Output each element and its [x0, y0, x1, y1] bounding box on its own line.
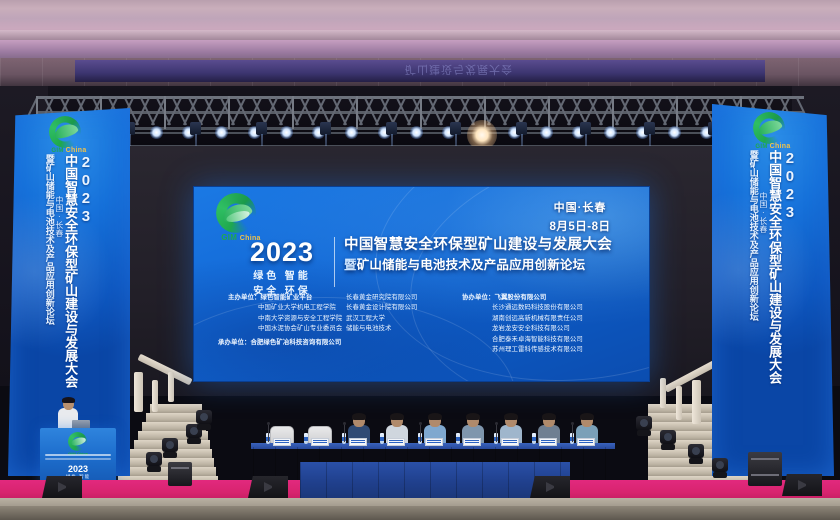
moving-head-light [660, 430, 676, 450]
screen-year: 2023 [236, 239, 328, 266]
floor-monitor-speaker [248, 476, 288, 498]
drape-fold [482, 462, 483, 502]
floor-monitor-speaker [530, 476, 570, 498]
screen-dates: 8月5日-8日 [524, 218, 636, 234]
table-skirt-fold [297, 447, 298, 483]
host-organizer-item: 中国矿业大学机电工程学院 [228, 303, 346, 313]
banner-left-title-sub: 暨矿山储能与电池技术及产品应用创新论坛 [45, 154, 54, 472]
undertaker-label: 承办单位： [218, 339, 250, 346]
host-organizer-item: 中国水泥协会矿山专业委员会 [228, 324, 346, 334]
screen-slogan-1: 绿色 智能 [236, 270, 328, 285]
co-organizer-item: 合肥泰禾卓海智能科技有限公司 [462, 335, 583, 345]
co-organizer-item: 龙岩龙安安全科技有限公司 [462, 324, 583, 334]
water-bottle [380, 433, 384, 444]
stage-light-glow [604, 126, 617, 139]
gim-logo-podium: GIM China [65, 432, 91, 453]
co-organizer-item: 长沙通远数码科技股份有限公司 [462, 303, 583, 313]
drape-fold [300, 462, 301, 502]
name-card [501, 438, 519, 446]
name-card [463, 438, 481, 446]
equipment-flight-case [168, 462, 192, 486]
balustrade-right-post [692, 380, 701, 424]
gim-logo-banner-right: GIM China [747, 112, 799, 152]
co-organizer-label: 协办单位：飞翼股份有限公司 [462, 293, 583, 303]
screen-title-line2: 矿山储能与电池技术及产品应用创新论坛 [357, 258, 586, 272]
stage-light-glow [280, 126, 293, 139]
banner-left-location: 中国·长春 [55, 196, 63, 237]
screen-year-block: 2023 绿色 智能 安全 环保 [236, 239, 328, 299]
host-organizer-item: 中南大学资源与安全工程学院 [228, 314, 346, 324]
screen-title-line1: 中国智慧安全环保型矿山建设与发展大会 [344, 236, 594, 254]
balustrade-right-baluster [676, 386, 682, 420]
ceiling-moulding [0, 30, 840, 40]
table-microphone [496, 424, 497, 442]
table-microphone [268, 424, 269, 442]
truss-upright [420, 96, 422, 129]
banner-right-year: 2023 [782, 150, 797, 468]
moving-head-light [712, 458, 728, 478]
wall-tile-seam [798, 58, 799, 88]
co-organizer-item: 湖南创远高新机械有限责任公司 [462, 314, 583, 324]
balustrade-left-baluster [168, 372, 174, 402]
name-card [273, 438, 291, 446]
name-card [387, 438, 405, 446]
gim-logo-text: GIM [221, 233, 237, 242]
balustrade-left-post [134, 372, 143, 412]
moving-head-light [636, 416, 652, 436]
balustrade-left-baluster [152, 380, 158, 412]
name-card [577, 438, 595, 446]
gim-logo-banner-left: GIM China [43, 116, 95, 156]
balustrade-right-baluster [660, 378, 666, 408]
stage-front-drape [300, 462, 570, 502]
screen-place-block: 中国·长春 8月5日-8日 [524, 199, 636, 234]
stage-light-glow [540, 126, 553, 139]
vertical-banner-right: GIM China 2023 中国智慧安全环保型矿山建设与发展大会 中国·长春 … [712, 104, 834, 476]
drape-fold [508, 462, 509, 502]
stage-front-edge-lower [0, 506, 840, 520]
main-led-screen: GIM China 2023 绿色 智能 安全 环保 中国智慧安全环保型矿山建设… [193, 186, 650, 382]
screen-title-prefix: 暨 [344, 258, 357, 272]
overhead-led-strip-text: 矿山建设与发展大会 [405, 62, 513, 78]
stage-light-glow [150, 126, 163, 139]
undertaker-name: 合肥绿色矿冶科技咨询有限公司 [250, 339, 341, 346]
screen-undertaker: 承办单位：合肥绿色矿冶科技咨询有限公司 [218, 337, 341, 346]
name-card [425, 438, 443, 446]
moving-head-light [162, 438, 178, 458]
host-organizer-secondary-item: 储能与电池技术 [346, 324, 454, 334]
stage-light-glow [215, 126, 228, 139]
host-organizer-secondary-item: 长春黄金设计院有限公司 [346, 303, 454, 313]
table-microphone [572, 424, 573, 442]
name-card [539, 438, 557, 446]
banner-right-location: 中国·长春 [759, 192, 767, 233]
truss-upright [548, 96, 550, 129]
stage-light-glow [668, 126, 681, 139]
screen-location: 中国·长春 [524, 199, 636, 215]
banner-right-title-main: 中国智慧安全环保型矿山建设与发展大会 [768, 150, 781, 468]
host-organizer-secondary-item: 武汉工程大学 [346, 314, 454, 324]
floor-monitor-speaker [42, 476, 82, 498]
stage-light-glow [410, 126, 423, 139]
screen-title-block: 中国智慧安全环保型矿山建设与发展大会 暨矿山储能与电池技术及产品应用创新论坛 [344, 236, 594, 273]
podium-year: 2023 [40, 464, 116, 474]
stage-light-glow [345, 126, 358, 139]
table-skirt-fold [605, 447, 606, 483]
drape-fold [352, 462, 353, 502]
water-bottle [456, 433, 460, 444]
banner-right-title-sub: 暨矿山储能与电池技术及产品应用创新论坛 [749, 150, 758, 468]
moving-head-light [196, 410, 212, 430]
conference-stage-photo: 矿山建设与发展大会 GIM China 2023 中国智慧 [0, 0, 840, 520]
gim-logo-main: GIM China [208, 193, 274, 243]
name-card [311, 438, 329, 446]
truss-upright [292, 96, 294, 129]
wall-tile-seam [42, 58, 43, 88]
table-microphone [344, 424, 345, 442]
overhead-led-strip: 矿山建设与发展大会 [75, 60, 765, 82]
host-organizer-label: 主办单位：绿色智能矿业平台 [228, 293, 346, 303]
host-organizer-secondary-item: 长春黄金研究院有限公司 [346, 293, 454, 303]
drape-fold [430, 462, 431, 502]
truss-upright [612, 96, 614, 129]
truss-upright [676, 96, 678, 129]
floor-monitor-speaker [782, 474, 822, 496]
wall-tile-seam [0, 58, 1, 88]
table-microphone [420, 424, 421, 442]
truss-upright [228, 96, 230, 129]
water-bottle [532, 433, 536, 444]
water-bottle [304, 433, 308, 444]
lighting-truss [36, 96, 804, 130]
drape-fold [456, 462, 457, 502]
screen-divider [334, 237, 335, 287]
drape-fold [326, 462, 327, 502]
truss-upright [164, 96, 166, 129]
name-card [349, 438, 367, 446]
drape-fold [378, 462, 379, 502]
truss-upright [356, 96, 358, 129]
table-skirt-fold [583, 447, 584, 483]
moving-head-light [688, 444, 704, 464]
equipment-flight-case [748, 452, 782, 486]
co-organizer-item: 苏州理工雷科传感技术有限公司 [462, 345, 583, 355]
drape-fold [404, 462, 405, 502]
moving-head-light [146, 452, 162, 472]
